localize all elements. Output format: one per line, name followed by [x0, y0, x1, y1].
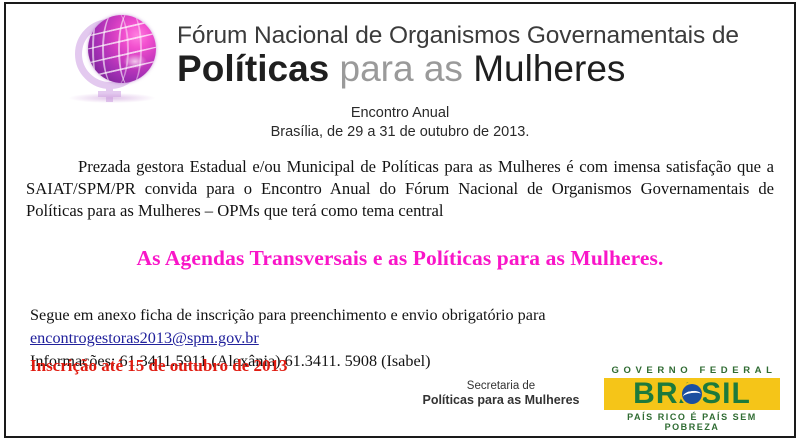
logo-line-1: Fórum Nacional de Organismos Governament… — [177, 23, 739, 49]
gov-logo-slogan: PAÍS RICO É PAÍS SEM POBREZA — [604, 413, 780, 433]
logo-wordmark: Fórum Nacional de Organismos Governament… — [177, 23, 739, 90]
footer-spm-line-1: Secretaria de — [404, 379, 598, 393]
logo-word-para-as: para as — [329, 48, 473, 89]
gov-logo-top-text: GOVERNO FEDERAL — [604, 366, 780, 376]
event-location-dates: Brasília, de 29 a 31 de outubro de 2013. — [0, 123, 800, 142]
event-name: Encontro Anual — [0, 104, 800, 123]
logo-line-2: Políticas para as Mulheres — [177, 49, 739, 89]
logo-word-politicas: Políticas — [177, 48, 329, 89]
globe-icon — [88, 15, 156, 83]
theme-headline: As Agendas Transversais e as Políticas p… — [0, 246, 800, 271]
deadline-notice: Inscrição até 15 de outubro de 2013 — [30, 356, 288, 376]
header-logo-block: Fórum Nacional de Organismos Governament… — [0, 8, 800, 104]
registration-instruction-line: Segue em anexo ficha de inscrição para p… — [30, 304, 774, 350]
intro-paragraph: Prezada gestora Estadual e/ou Municipal … — [26, 156, 774, 222]
event-subtitle: Encontro Anual Brasília, de 29 a 31 de o… — [0, 104, 800, 142]
logo-word-mulheres: Mulheres — [473, 48, 625, 89]
email-link[interactable]: encontrogestoras2013@spm.gov.br — [30, 329, 259, 347]
registration-instruction-text: Segue em anexo ficha de inscrição para p… — [30, 306, 546, 324]
footer-spm-block: Secretaria de Políticas para as Mulheres — [404, 379, 598, 409]
gov-logo-band: BRASIL — [604, 378, 780, 410]
footer-spm-line-2: Políticas para as Mulheres — [404, 393, 598, 409]
venus-globe-icon — [61, 9, 173, 103]
logo-shadow — [69, 93, 155, 103]
brasil-government-logo: GOVERNO FEDERAL BRASIL PAÍS RICO É PAÍS … — [604, 366, 780, 433]
invitation-page: Fórum Nacional de Organismos Governament… — [0, 0, 800, 446]
